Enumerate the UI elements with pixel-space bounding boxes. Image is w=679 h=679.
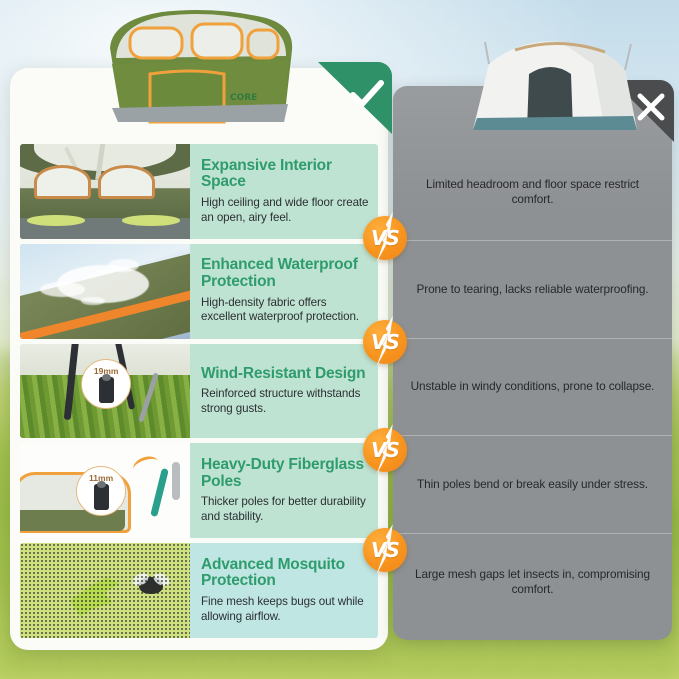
drawback-row-mosquito: Large mesh gaps let insects in, compromi… <box>393 533 672 630</box>
vs-badge: VS <box>363 320 407 364</box>
infographic-canvas: Expansive Interior Space High ceiling an… <box>0 0 679 679</box>
drawback-row-poles: Thin poles bend or break easily under st… <box>393 435 672 532</box>
feature-row-interior: Expansive Interior Space High ceiling an… <box>20 144 378 239</box>
tent-pole-in-grass-photo: 19mm <box>20 344 190 439</box>
drawback-text: Unstable in windy conditions, prone to c… <box>395 379 671 394</box>
drawback-row-waterproof: Prone to tearing, lacks reliable waterpr… <box>393 240 672 337</box>
feature-row-wind: 19mm Wind-Resistant Design Reinforced st… <box>20 344 378 439</box>
fiberglass-pole-photo: 11mm <box>20 443 190 538</box>
good-tent-illustration: CORE <box>88 4 318 124</box>
svg-text:CORE: CORE <box>230 93 257 103</box>
good-feature-list: Expansive Interior Space High ceiling an… <box>10 68 388 650</box>
drawback-text: Large mesh gaps let insects in, compromi… <box>393 567 672 598</box>
bad-tent-illustration <box>455 30 655 135</box>
feature-heading: Expansive Interior Space <box>201 158 370 191</box>
feature-heading: Heavy-Duty Fiberglass Poles <box>201 457 370 490</box>
mesh-with-insects-photo <box>20 543 190 638</box>
drawback-row-wind: Unstable in windy conditions, prone to c… <box>393 338 672 435</box>
feature-heading: Wind-Resistant Design <box>201 366 370 383</box>
feature-row-waterproof: Enhanced Waterproof Protection High-dens… <box>20 244 378 339</box>
feature-heading: Enhanced Waterproof Protection <box>201 257 370 290</box>
vs-badge-label: VS <box>363 528 407 572</box>
drawback-row-interior: Limited headroom and floor space restric… <box>393 144 672 240</box>
pole-diameter-callout: 19mm <box>81 359 131 409</box>
good-check-corner <box>318 62 392 134</box>
drawback-text: Prone to tearing, lacks reliable waterpr… <box>400 282 664 297</box>
feature-row-poles: 11mm Heavy-Duty Fiberglass Poles Thicker… <box>20 443 378 538</box>
vs-badge: VS <box>363 428 407 472</box>
feature-body: High ceiling and wide floor create an op… <box>201 196 370 225</box>
feature-body: Fine mesh keeps bugs out while allowing … <box>201 595 370 624</box>
drawback-text: Limited headroom and floor space restric… <box>393 177 672 208</box>
water-splash-on-tent-photo <box>20 244 190 339</box>
feature-heading: Advanced Mosquito Protection <box>201 557 370 590</box>
vs-badge-label: VS <box>363 216 407 260</box>
vs-badge: VS <box>363 216 407 260</box>
pole-diameter-callout: 11mm <box>76 466 126 516</box>
vs-badge-label: VS <box>363 320 407 364</box>
drawback-text: Thin poles bend or break easily under st… <box>401 477 664 492</box>
vs-badge: VS <box>363 528 407 572</box>
feature-body: Thicker poles for better durability and … <box>201 495 370 524</box>
feature-row-mosquito: Advanced Mosquito Protection Fine mesh k… <box>20 543 378 638</box>
tent-interior-photo <box>20 144 190 239</box>
feature-body: Reinforced structure withstands strong g… <box>201 387 370 416</box>
competitor-drawback-list: Limited headroom and floor space restric… <box>393 86 672 640</box>
feature-body: High-density fabric offers excellent wat… <box>201 296 370 325</box>
vs-badge-label: VS <box>363 428 407 472</box>
check-icon <box>350 80 384 110</box>
